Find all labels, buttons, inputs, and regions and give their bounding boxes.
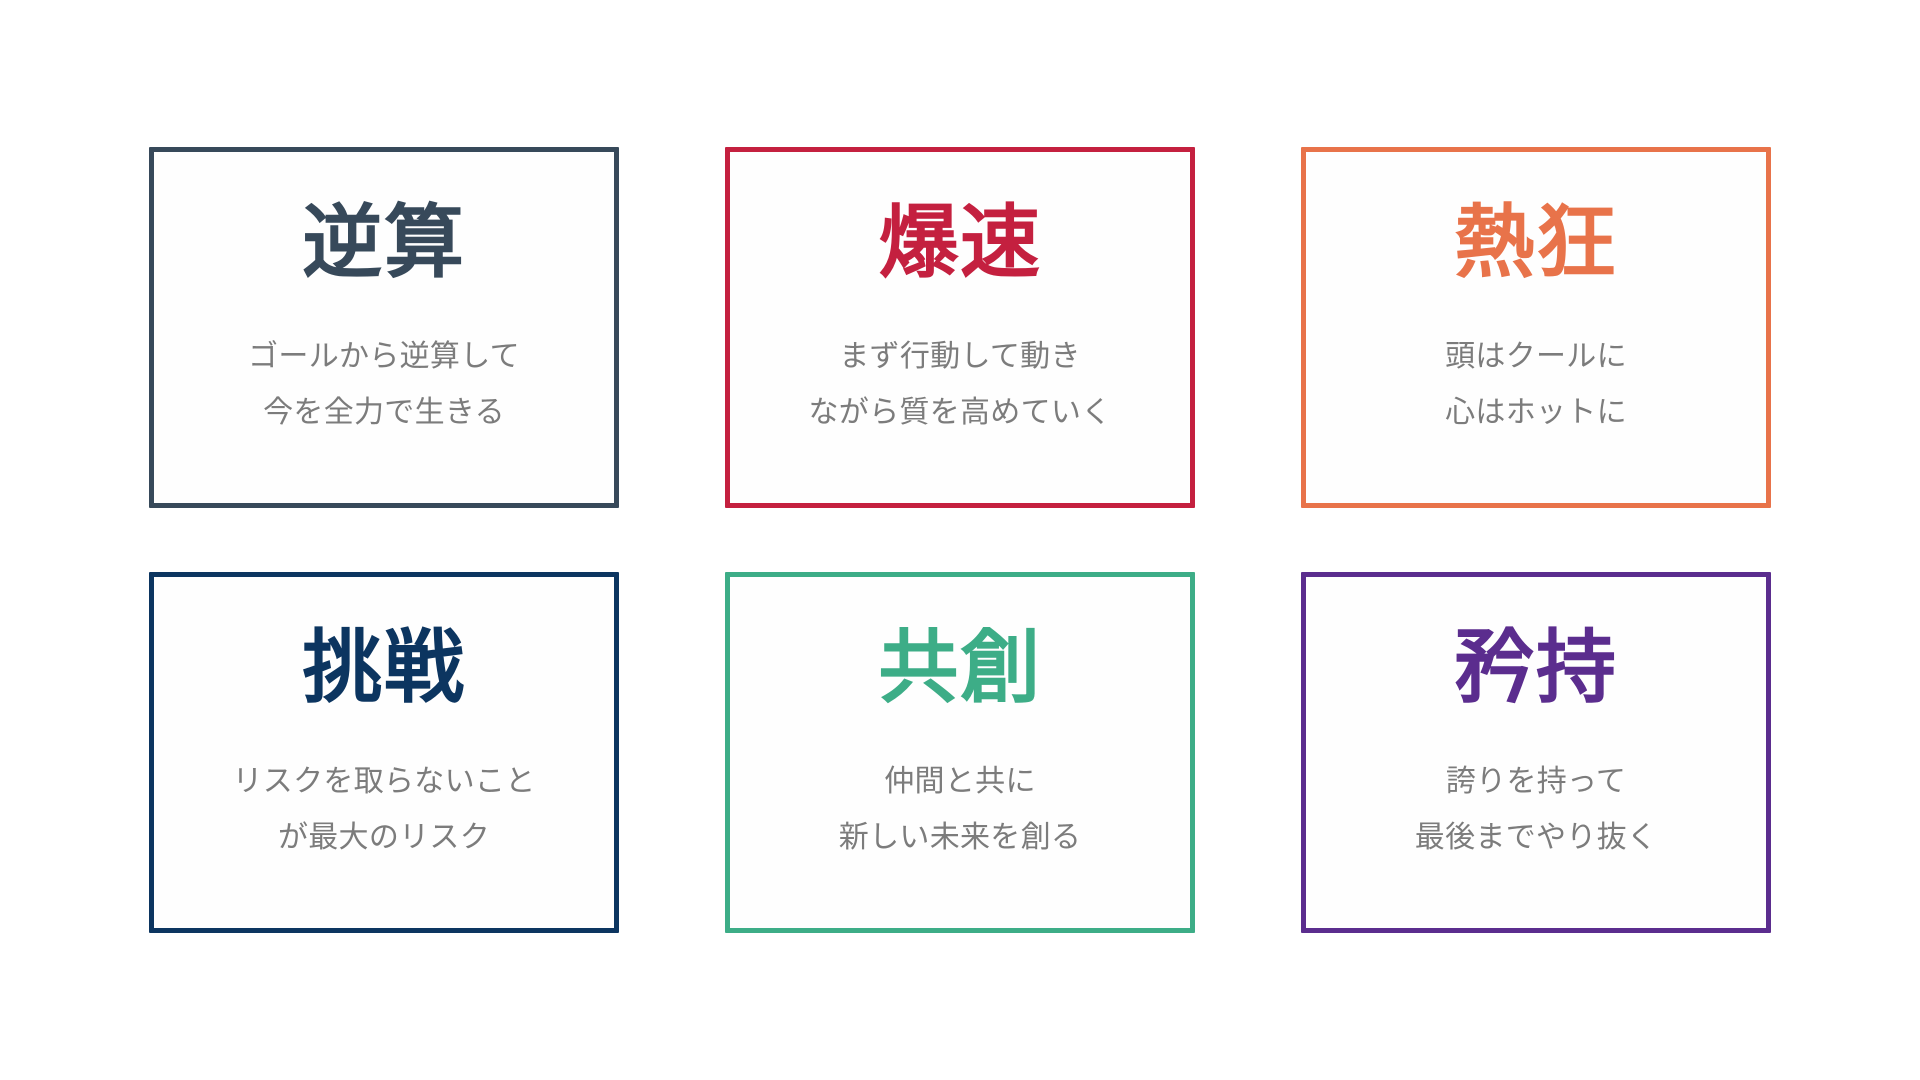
card-description-line-2: ながら質を高めていく: [809, 385, 1112, 441]
card-description-line-2: 新しい未来を創る: [839, 810, 1081, 866]
card-content: 共創 仲間と共に 新しい未来を創る: [839, 628, 1081, 865]
card-content: 熱狂 頭はクールに 心はホットに: [1445, 203, 1627, 440]
card-description-line-1: 仲間と共に: [839, 754, 1081, 810]
card-description-line-2: 心はホットに: [1445, 385, 1627, 441]
card-description: 頭はクールに 心はホットに: [1445, 329, 1627, 440]
card-description-line-1: まず行動して動き: [809, 329, 1112, 385]
card-description-line-1: リスクを取らないこと: [233, 754, 536, 810]
card-content: 挑戦 リスクを取らないこと が最大のリスク: [233, 628, 536, 865]
value-card-bakusoku[interactable]: 爆速 まず行動して動き ながら質を高めていく: [725, 147, 1195, 508]
card-description: 誇りを持って 最後までやり抜く: [1415, 754, 1657, 865]
value-card-kyouji[interactable]: 矜持 誇りを持って 最後までやり抜く: [1301, 572, 1771, 933]
card-title: 熱狂: [1454, 203, 1617, 283]
card-title: 逆算: [302, 203, 465, 283]
value-card-chousen[interactable]: 挑戦 リスクを取らないこと が最大のリスク: [149, 572, 619, 933]
card-content: 爆速 まず行動して動き ながら質を高めていく: [809, 203, 1112, 440]
card-content: 矜持 誇りを持って 最後までやり抜く: [1415, 628, 1657, 865]
card-description: まず行動して動き ながら質を高めていく: [809, 329, 1112, 440]
card-description: 仲間と共に 新しい未来を創る: [839, 754, 1081, 865]
card-content: 逆算 ゴールから逆算して 今を全力で生きる: [248, 203, 520, 440]
card-description-line-1: 頭はクールに: [1445, 329, 1627, 385]
card-description: ゴールから逆算して 今を全力で生きる: [248, 329, 520, 440]
card-description-line-1: 誇りを持って: [1415, 754, 1657, 810]
card-title: 矜持: [1454, 628, 1617, 708]
value-card-nekkyou[interactable]: 熱狂 頭はクールに 心はホットに: [1301, 147, 1771, 508]
card-description-line-2: 最後までやり抜く: [1415, 810, 1657, 866]
value-cards-grid: 逆算 ゴールから逆算して 今を全力で生きる 爆速 まず行動して動き ながら質を高…: [149, 147, 1771, 933]
value-cards-board: 逆算 ゴールから逆算して 今を全力で生きる 爆速 まず行動して動き ながら質を高…: [0, 0, 1920, 1080]
card-description: リスクを取らないこと が最大のリスク: [233, 754, 536, 865]
card-title: 共創: [878, 628, 1041, 708]
card-title: 挑戦: [302, 628, 465, 708]
card-title: 爆速: [878, 203, 1041, 283]
card-description-line-2: 今を全力で生きる: [248, 385, 520, 441]
card-description-line-1: ゴールから逆算して: [248, 329, 520, 385]
value-card-gyakusan[interactable]: 逆算 ゴールから逆算して 今を全力で生きる: [149, 147, 619, 508]
value-card-kyousou[interactable]: 共創 仲間と共に 新しい未来を創る: [725, 572, 1195, 933]
card-description-line-2: が最大のリスク: [233, 810, 536, 866]
